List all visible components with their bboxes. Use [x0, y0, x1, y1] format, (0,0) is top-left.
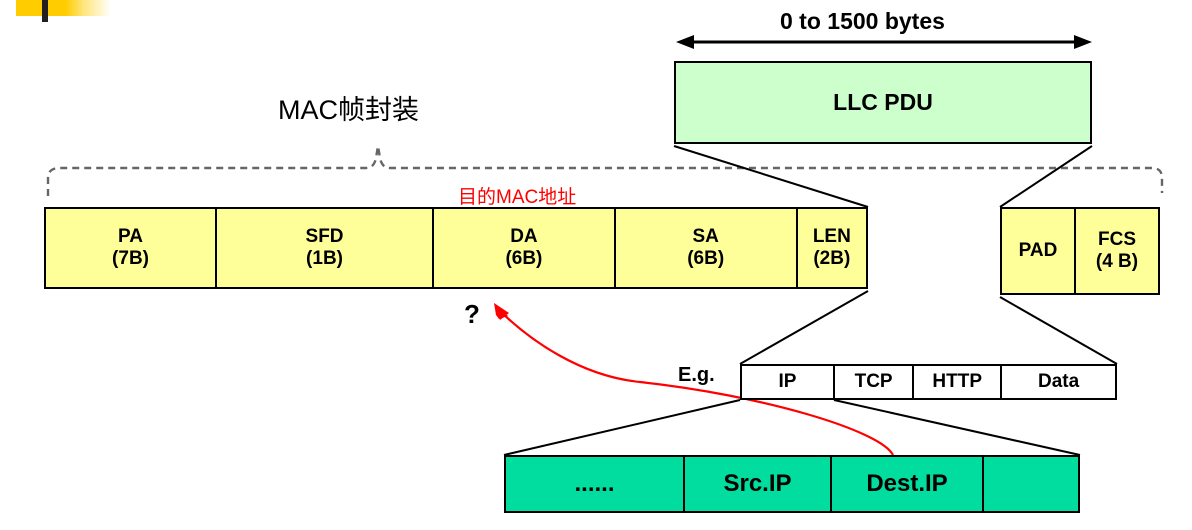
frame-to-example-connectors: [740, 291, 1117, 364]
protocol-cell-http: HTTP: [914, 366, 1002, 398]
mac-frame-tail-row: PAD FCS (4 B): [1000, 207, 1160, 295]
decoration-dark-stripe: [42, 0, 48, 22]
ip-datagram-row: ...... Src.IP Dest.IP: [504, 455, 1080, 513]
protocol-stack-row: IP TCP HTTP Data: [740, 364, 1117, 400]
mac-field-sfd-name: SFD: [306, 226, 344, 248]
mac-field-pa-name: PA: [118, 226, 143, 248]
mac-field-pad: PAD: [1002, 209, 1076, 293]
mac-field-fcs-size: (4 B): [1096, 251, 1138, 273]
mac-field-da-name: DA: [510, 226, 537, 248]
llc-pdu-label: LLC PDU: [833, 89, 933, 116]
mac-field-sa: SA (6B): [616, 209, 798, 287]
protocol-cell-ip: IP: [742, 366, 835, 398]
mac-field-pad-name: PAD: [1019, 240, 1058, 262]
ip-datagram-cell-src-ip: Src.IP: [685, 457, 832, 511]
llc-size-dimension-arrow: [676, 35, 1092, 49]
mac-field-sfd-size: (1B): [306, 248, 343, 270]
mac-field-sfd: SFD (1B): [217, 209, 434, 287]
ip-datagram-cell-dest-ip: Dest.IP: [832, 457, 984, 511]
ip-datagram-cell-ellipsis: ......: [506, 457, 685, 511]
slide-canvas: 0 to 1500 bytes MAC帧封装 目的MAC地址 ? E.g. LL…: [0, 0, 1192, 530]
mac-encapsulation-title: MAC帧封装: [278, 88, 419, 127]
protocol-cell-tcp: TCP: [835, 366, 914, 398]
mac-field-sa-size: (6B): [687, 248, 724, 270]
mac-encapsulation-bracket: [48, 146, 1162, 196]
mac-field-fcs-name: FCS: [1098, 229, 1136, 251]
llc-pdu-box: LLC PDU: [674, 61, 1092, 144]
ip-to-datagram-connectors: [504, 400, 1080, 455]
mac-field-da-size: (6B): [505, 248, 542, 270]
ip-datagram-cell-rest: [984, 457, 1078, 511]
protocol-cell-data: Data: [1002, 366, 1115, 398]
mac-field-fcs: FCS (4 B): [1076, 209, 1158, 293]
destination-mac-annotation: 目的MAC地址: [458, 182, 576, 209]
mac-field-pa: PA (7B): [46, 209, 217, 287]
example-label: E.g.: [678, 364, 715, 387]
mac-field-sa-name: SA: [693, 226, 719, 248]
mac-field-len-size: (2B): [813, 248, 850, 270]
mac-frame-header-row: PA (7B) SFD (1B) DA (6B) SA (6B) LEN (2B…: [44, 207, 868, 289]
mac-field-len: LEN (2B): [798, 209, 866, 287]
mac-field-len-name: LEN: [813, 226, 851, 248]
llc-to-frame-connectors: [674, 146, 1092, 207]
question-marker: ?: [464, 299, 480, 330]
decoration-yellow-bar: [16, 0, 111, 16]
mac-field-pa-size: (7B): [112, 248, 149, 270]
llc-size-label: 0 to 1500 bytes: [780, 8, 945, 35]
mac-field-da: DA (6B): [434, 209, 616, 287]
